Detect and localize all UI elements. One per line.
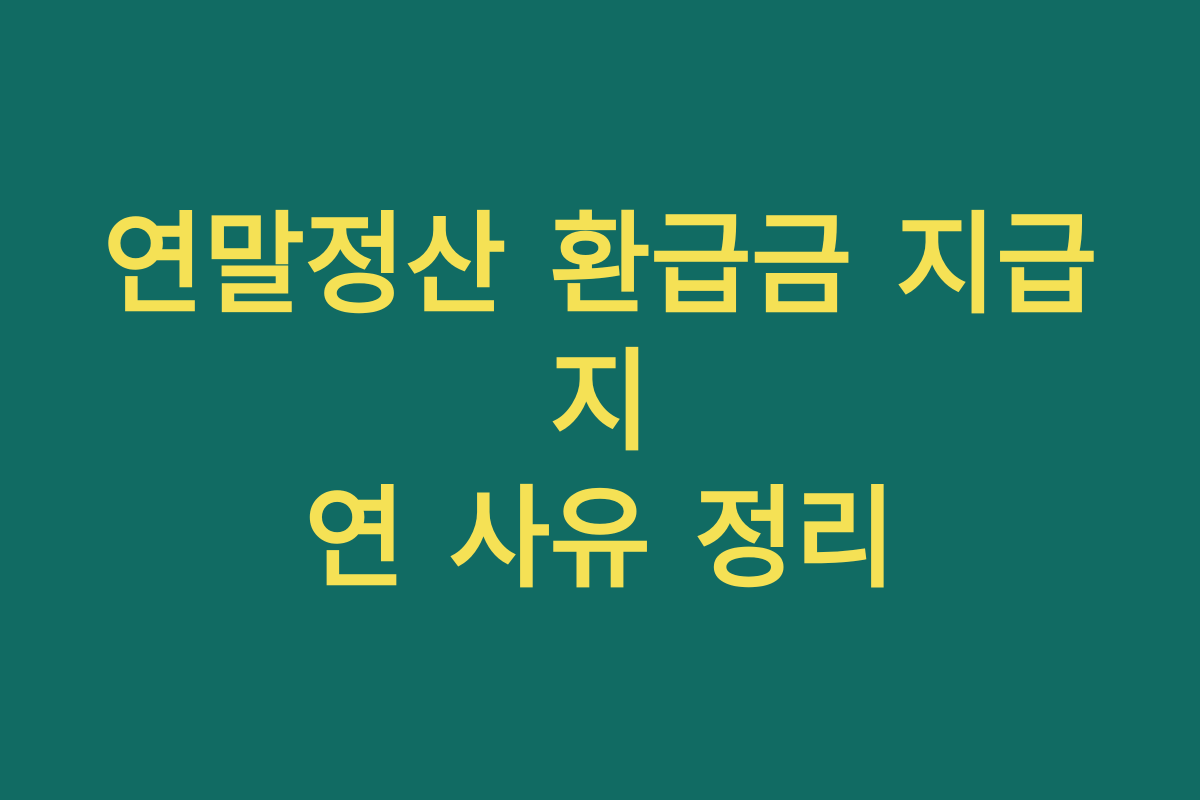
page-title: 연말정산 환급금 지급 지 연 사유 정리	[78, 197, 1123, 608]
headline-block: 연말정산 환급금 지급 지 연 사유 정리	[0, 0, 1200, 800]
headline-line-1: 연말정산 환급금 지급 지	[78, 197, 1123, 471]
headline-line-2: 연 사유 정리	[78, 471, 1123, 608]
thumbnail-canvas: 연말정산 환급금 지급 지 연 사유 정리	[0, 0, 1200, 800]
